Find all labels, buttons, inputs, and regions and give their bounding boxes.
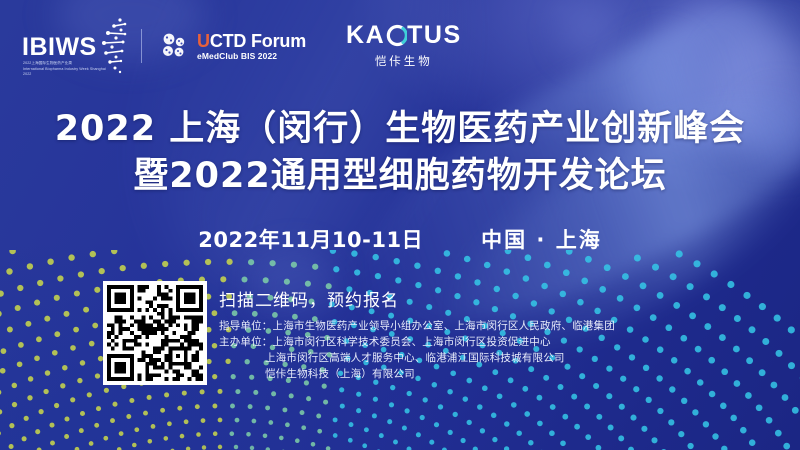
- poster-title-line1: 2022 上海（闵行）生物医药产业创新峰会: [0, 108, 800, 152]
- kactus-wordmark-right: TUS: [407, 23, 462, 48]
- poster-title-line2: 暨2022通用型细胞药物开发论坛: [0, 155, 800, 199]
- scan-prompt-text: 扫描二维码，预约报名: [219, 286, 399, 311]
- dna-helix-icon: [94, 17, 128, 75]
- kactus-logo: KA TUS 恺佧生物: [346, 23, 462, 69]
- uctd-title-rest: CTD Forum: [210, 31, 306, 51]
- header-logo-bar: IBIWS 2022上海国际生物医药产业周 International Biop…: [0, 0, 800, 92]
- ibiws-wordmark: IBIWS: [22, 35, 97, 60]
- organizer-line: 恺佧生物科技（上海）有限公司: [219, 367, 749, 383]
- organizer-line: 指导单位：上海市生物医药产业领导小组办公室、上海市闵行区人民政府、临港集团: [219, 319, 749, 335]
- title-block: 2022 上海（闵行）生物医药产业创新峰会 暨2022通用型细胞药物开发论坛: [0, 108, 800, 199]
- qr-code-image: [107, 285, 203, 381]
- event-location: 中国 · 上海: [481, 224, 602, 254]
- event-meta: 2022年11月10-11日 中国 · 上海: [0, 224, 800, 254]
- kactus-wordmark: KA TUS: [346, 23, 462, 48]
- uctd-title: UCTD Forum: [197, 32, 306, 50]
- registration-qr-code[interactable]: [103, 281, 207, 385]
- ibiws-logo: IBIWS 2022上海国际生物医药产业周 International Biop…: [22, 15, 127, 77]
- kactus-wordmark-left: KA: [346, 23, 385, 48]
- organizer-line: 主办单位：上海市闵行区科学技术委员会、上海市闵行区投资促进中心: [219, 335, 749, 351]
- organizer-line: 上海市闵行区高端人才服务中心、临港浦江国际科技城有限公司: [219, 351, 749, 367]
- kactus-subtitle-cn: 恺佧生物: [346, 53, 462, 69]
- kactus-c-glyph-icon: [385, 23, 407, 48]
- event-date: 2022年11月10-11日: [198, 224, 423, 254]
- uctd-forum-logo: UCTD Forum eMedClub BIS 2022: [160, 31, 306, 61]
- molecule-cluster-icon: [160, 31, 190, 61]
- organizer-list: 指导单位：上海市生物医药产业领导小组办公室、上海市闵行区人民政府、临港集团 主办…: [219, 319, 749, 383]
- uctd-subtitle: eMedClub BIS 2022: [197, 52, 306, 61]
- conference-poster: IBIWS 2022上海国际生物医药产业周 International Biop…: [0, 0, 800, 450]
- uctd-title-u: U: [197, 31, 210, 51]
- logo-divider: [141, 29, 142, 63]
